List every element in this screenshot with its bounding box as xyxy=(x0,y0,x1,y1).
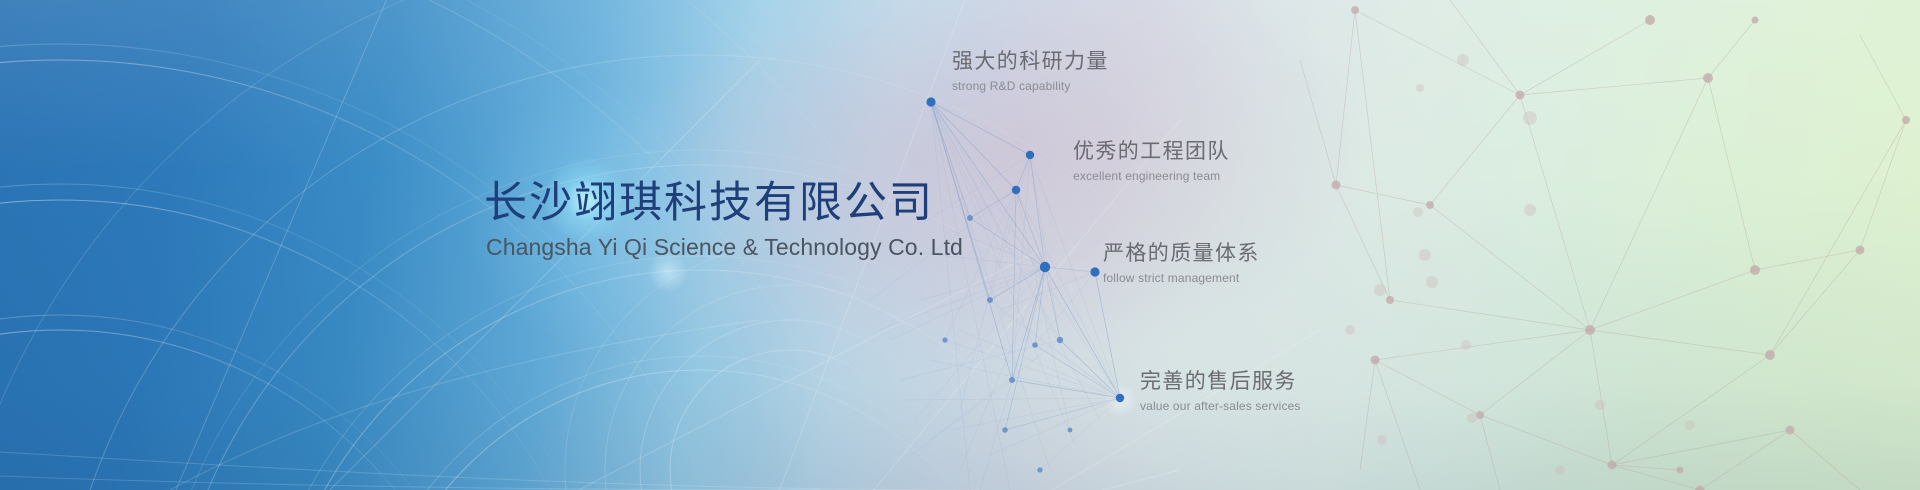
feature-label-cn-0: 强大的科研力量 xyxy=(952,48,1109,76)
feature-item-service: 完善的售后服务 value our after-sales services xyxy=(1140,368,1301,413)
company-name-en: Changsha Yi Qi Science & Technology Co. … xyxy=(486,234,963,261)
feature-label-cn-2: 严格的质量体系 xyxy=(1103,240,1260,268)
feature-label-en-3: value our after-sales services xyxy=(1140,399,1301,413)
company-name-cn: 长沙翊琪科技有限公司 xyxy=(484,178,963,230)
feature-label-cn-1: 优秀的工程团队 xyxy=(1073,138,1230,166)
feature-label-cn-3: 完善的售后服务 xyxy=(1140,368,1301,396)
feature-label-en-2: follow strict management xyxy=(1103,271,1260,285)
feature-label-en-1: excellent engineering team xyxy=(1073,169,1230,183)
feature-item-rd: 强大的科研力量 strong R&D capability xyxy=(952,48,1109,93)
company-title-block: 长沙翊琪科技有限公司 Changsha Yi Qi Science & Tech… xyxy=(484,178,963,261)
feature-item-quality: 严格的质量体系 follow strict management xyxy=(1103,240,1260,285)
hero-banner: 长沙翊琪科技有限公司 Changsha Yi Qi Science & Tech… xyxy=(0,0,1920,490)
feature-item-team: 优秀的工程团队 excellent engineering team xyxy=(1073,138,1230,183)
feature-label-en-0: strong R&D capability xyxy=(952,79,1109,93)
